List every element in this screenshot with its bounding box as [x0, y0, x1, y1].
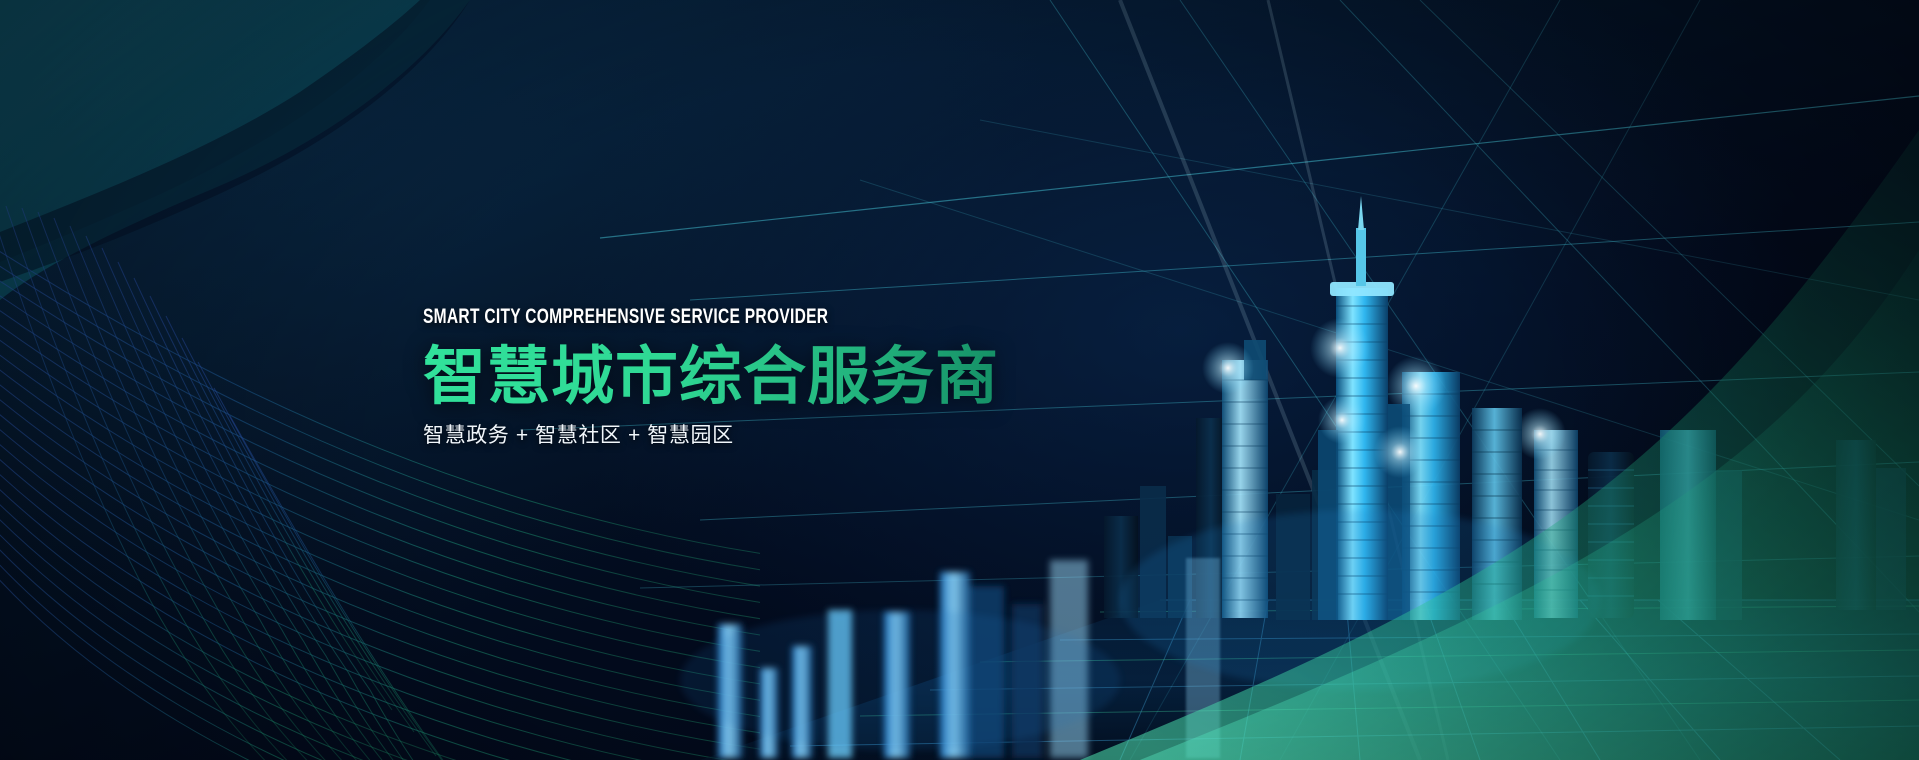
hero-tagline: 智慧政务 + 智慧社区 + 智慧园区: [423, 409, 999, 446]
hero-eyebrow: SMART CITY COMPREHENSIVE SERVICE PROVIDE…: [423, 306, 849, 327]
page-title: 智慧城市综合服务商: [423, 327, 999, 409]
hero-copy-block: SMART CITY COMPREHENSIVE SERVICE PROVIDE…: [423, 306, 999, 446]
smart-city-hero-banner: SMART CITY COMPREHENSIVE SERVICE PROVIDE…: [0, 0, 1919, 760]
